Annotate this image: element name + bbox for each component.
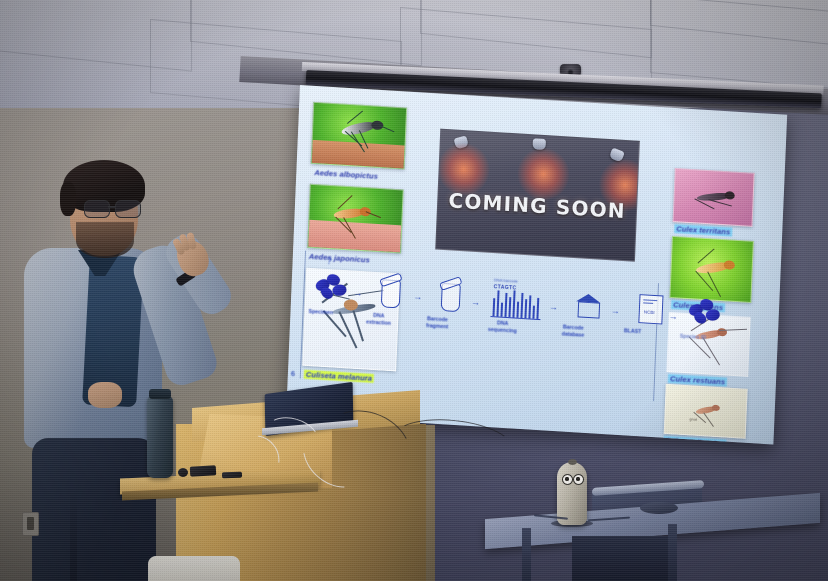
tube-icon	[381, 279, 401, 308]
water-bottle[interactable]	[147, 396, 173, 478]
specimen-label-0: Aedes albopictus	[314, 168, 378, 181]
workflow-arrow-0: →	[353, 288, 362, 299]
workflow-label-5: BLAST	[624, 328, 642, 336]
specimen-thumb-aedes-albopictus	[311, 102, 407, 170]
presentation-room-photo: Aedes albopictus Aedes japonicus	[0, 0, 828, 581]
workflow-arrow-3: →	[549, 302, 558, 313]
pcr-tube-icon	[441, 283, 461, 312]
projection-screen: Aedes albopictus Aedes japonicus	[286, 85, 787, 445]
dna-barcoding-workflow: ? Specimen → DNA extraction → Barcode fr…	[308, 261, 742, 407]
presenter-lower-hand	[88, 382, 122, 408]
workflow-arrow-2: →	[471, 297, 480, 308]
presenter-leg-seam	[70, 490, 77, 581]
workflow-label-4: Barcode database	[562, 324, 585, 338]
workflow-arrow-5: →	[668, 311, 677, 322]
workflow-step-2: Barcode fragment	[430, 268, 476, 271]
mosquito-cluster-icon	[315, 273, 350, 303]
table-modesty-panel	[572, 536, 668, 581]
meeting-owl-camera[interactable]	[557, 462, 587, 525]
workflow-step-1: DNA extraction	[371, 265, 417, 268]
specimen-thumb-aedes-japonicus	[307, 184, 404, 254]
table-leg-right	[668, 524, 677, 581]
report-icon: NCBI	[638, 294, 663, 324]
workflow-arrow-1: →	[413, 291, 422, 302]
workflow-label-2: Barcode fragment	[426, 316, 449, 330]
presenter-remote[interactable]	[190, 465, 216, 476]
mosquito-cluster-icon-2	[688, 298, 723, 328]
conference-speaker-puck[interactable]	[640, 502, 678, 514]
workflow-step-3: DNA barcode CTAGTC DNA sequencing	[490, 272, 548, 276]
slide-page-number: 6	[291, 369, 296, 378]
workflow-step-5: NCBI BLAST	[628, 280, 674, 283]
small-device[interactable]	[178, 468, 188, 477]
workflow-arrow-4: →	[611, 305, 620, 316]
presenter-pants	[32, 438, 156, 581]
table-leg-left	[522, 528, 531, 581]
workflow-label-0: Specimen	[308, 309, 333, 317]
owl-eye-right-icon	[573, 474, 584, 485]
chromatogram-icon: DNA barcode CTAGTC	[490, 286, 541, 319]
coming-soon-panel: COMING SOON	[435, 129, 640, 262]
workflow-step-4: Barcode database	[566, 277, 612, 280]
owl-eye-left-icon	[562, 474, 573, 485]
glasses-icon	[84, 200, 142, 217]
workflow-label-3: DNA sequencing	[488, 320, 517, 335]
chromatogram-title: DNA barcode	[494, 277, 518, 283]
workflow-label-1: DNA extraction	[366, 312, 391, 327]
specimen-thumb-culex-territans	[673, 168, 755, 227]
database-icon	[576, 293, 601, 316]
wall-outlet-icon	[22, 512, 39, 536]
foreground-chair[interactable]	[148, 556, 240, 581]
owl-top-lens-icon	[568, 459, 577, 465]
workflow-label-6: Species ID	[680, 334, 706, 342]
presenter-beard	[76, 222, 134, 258]
slide-content: Aedes albopictus Aedes japonicus	[286, 85, 787, 445]
specimen-label-3: Culex territans	[674, 224, 732, 237]
